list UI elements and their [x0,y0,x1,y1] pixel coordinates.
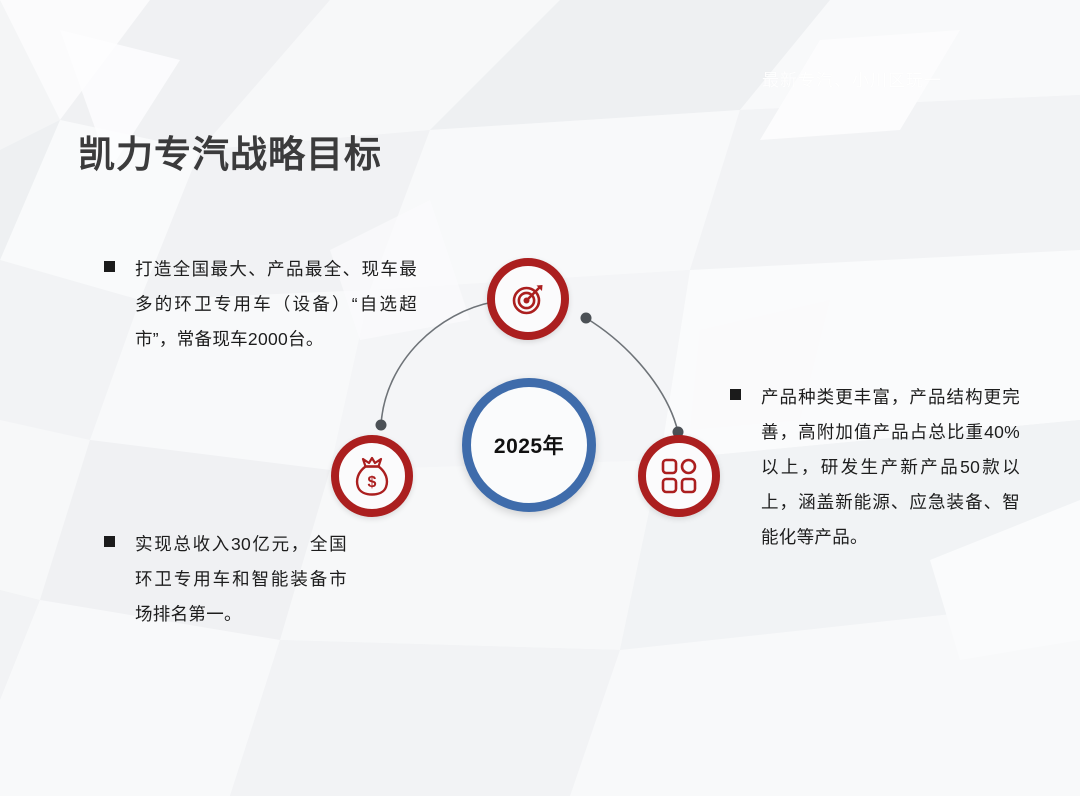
bullet-right-text: 产品种类更丰富，产品结构更完善，高附加值产品占总比重40%以上，研发生产新产品5… [761,380,1020,555]
bullet-bottom-left: 实现总收入30亿元，全国环卫专用车和智能装备市场排名第一。 [104,527,369,632]
bullet-bottom-left-text: 实现总收入30亿元，全国环卫专用车和智能装备市场排名第一。 [135,527,347,632]
bullet-marker-icon [104,536,115,547]
page-title: 凯力专汽战略目标 [78,124,382,178]
bullet-top-left: 打造全国最大、产品最全、现车最多的环卫专用车（设备）“自选超市”，常备现车200… [104,252,434,357]
center-year-label: 2025年 [494,430,564,460]
money-bag-icon: $ [352,455,392,497]
watermark-text: 最新专汽、小川区玩一 [762,66,942,91]
slide-canvas: 最新专汽、小川区玩一 凯力专汽战略目标 2025年 [0,0,1080,796]
node-product-grid[interactable] [638,435,720,517]
center-year-node[interactable]: 2025年 [462,378,596,512]
bullet-right: 产品种类更丰富，产品结构更完善，高附加值产品占总比重40%以上，研发生产新产品5… [730,380,1020,555]
bullet-marker-icon [104,261,115,272]
bullet-marker-icon [730,389,741,400]
node-money-bag[interactable]: $ [331,435,413,517]
target-icon [508,279,548,319]
svg-text:$: $ [368,474,377,491]
grid-icon [659,456,699,496]
node-target[interactable] [487,258,569,340]
bullet-top-left-text: 打造全国最大、产品最全、现车最多的环卫专用车（设备）“自选超市”，常备现车200… [135,252,417,357]
